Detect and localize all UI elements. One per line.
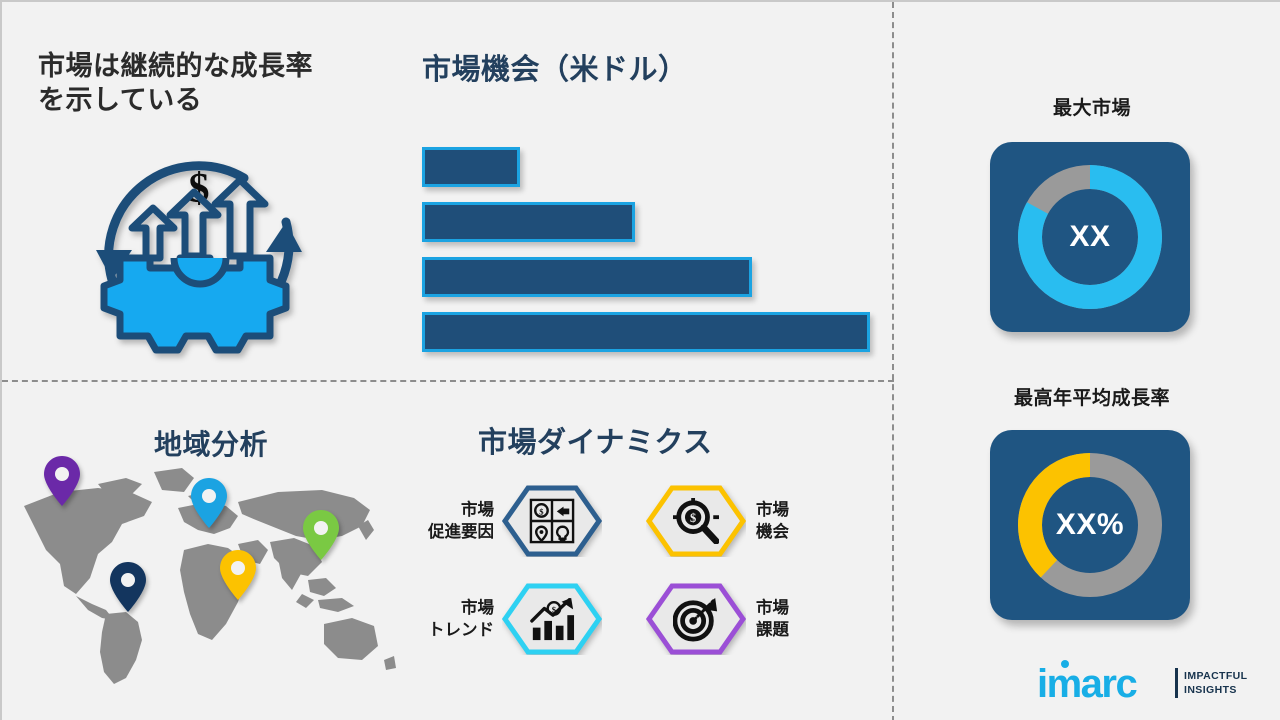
dynamics-section-title: 市場ダイナミクス xyxy=(478,425,713,461)
dynamics-item-opportunities[interactable]: $ 市場 機会 xyxy=(646,482,856,560)
bar-3 xyxy=(422,257,752,297)
imarc-tagline-line2: INSIGHTS xyxy=(1184,684,1237,696)
growth-section-title: 市場は継続的な成長率 を示している xyxy=(38,50,388,118)
svg-text:$: $ xyxy=(552,604,557,614)
opportunity-bar-chart xyxy=(422,147,882,352)
map-pin-north-america xyxy=(44,456,80,511)
dynamics-hex-grid: 市場 促進要因 $ xyxy=(406,482,856,682)
bar-4 xyxy=(422,312,870,352)
dynamics-item-trends[interactable]: 市場 トレンド $ xyxy=(406,580,602,658)
dynamics-item-trends-label: 市場 トレンド xyxy=(406,597,494,642)
largest-market-title: 最大市場 xyxy=(962,97,1222,121)
target-arrow-icon xyxy=(673,596,719,642)
map-pin-middle-east-africa xyxy=(220,550,256,605)
opportunity-section-title: 市場機会（米ドル） xyxy=(422,52,852,88)
imarc-logo-dot xyxy=(1061,660,1069,668)
highest-cagr-title: 最高年平均成長率 xyxy=(962,387,1222,411)
growth-cycle-gear-dollar-icon: $ xyxy=(74,130,324,370)
dynamics-item-drivers[interactable]: 市場 促進要因 $ xyxy=(406,482,602,560)
largest-market-value: XX xyxy=(990,142,1190,332)
highest-cagr-value: XX% xyxy=(990,430,1190,620)
map-pin-south-america xyxy=(110,562,146,617)
puzzle-pieces-icon: $ xyxy=(529,498,575,544)
bar-2 xyxy=(422,202,635,242)
dynamics-item-challenges[interactable]: 市場 課題 xyxy=(646,580,856,658)
dynamics-item-drivers-label: 市場 促進要因 xyxy=(406,499,494,544)
bar-1 xyxy=(422,147,520,187)
slide-canvas: 市場は継続的な成長率 を示している $ xyxy=(0,0,1280,720)
imarc-tagline-line1: IMPACTFUL xyxy=(1184,670,1247,682)
magnifier-dollar-icon: $ xyxy=(673,498,719,544)
dynamics-item-opportunities-label: 市場 機会 xyxy=(756,499,789,544)
imarc-wordmark: imarc xyxy=(1037,664,1136,704)
horizontal-divider xyxy=(2,380,894,382)
highest-cagr-card: XX% xyxy=(990,430,1190,620)
map-pin-east-asia xyxy=(303,510,339,565)
largest-market-card: XX xyxy=(990,142,1190,332)
map-pin-europe xyxy=(191,478,227,533)
dynamics-item-challenges-label: 市場 課題 xyxy=(756,597,789,642)
imarc-logo-divider xyxy=(1175,668,1178,698)
world-map xyxy=(2,454,402,694)
bar-chart-growth-icon: $ xyxy=(529,596,575,642)
imarc-logo: imarc IMPACTFUL INSIGHTS xyxy=(1037,662,1252,708)
svg-text:$: $ xyxy=(539,506,544,516)
svg-text:$: $ xyxy=(690,511,696,525)
vertical-divider xyxy=(892,2,894,720)
